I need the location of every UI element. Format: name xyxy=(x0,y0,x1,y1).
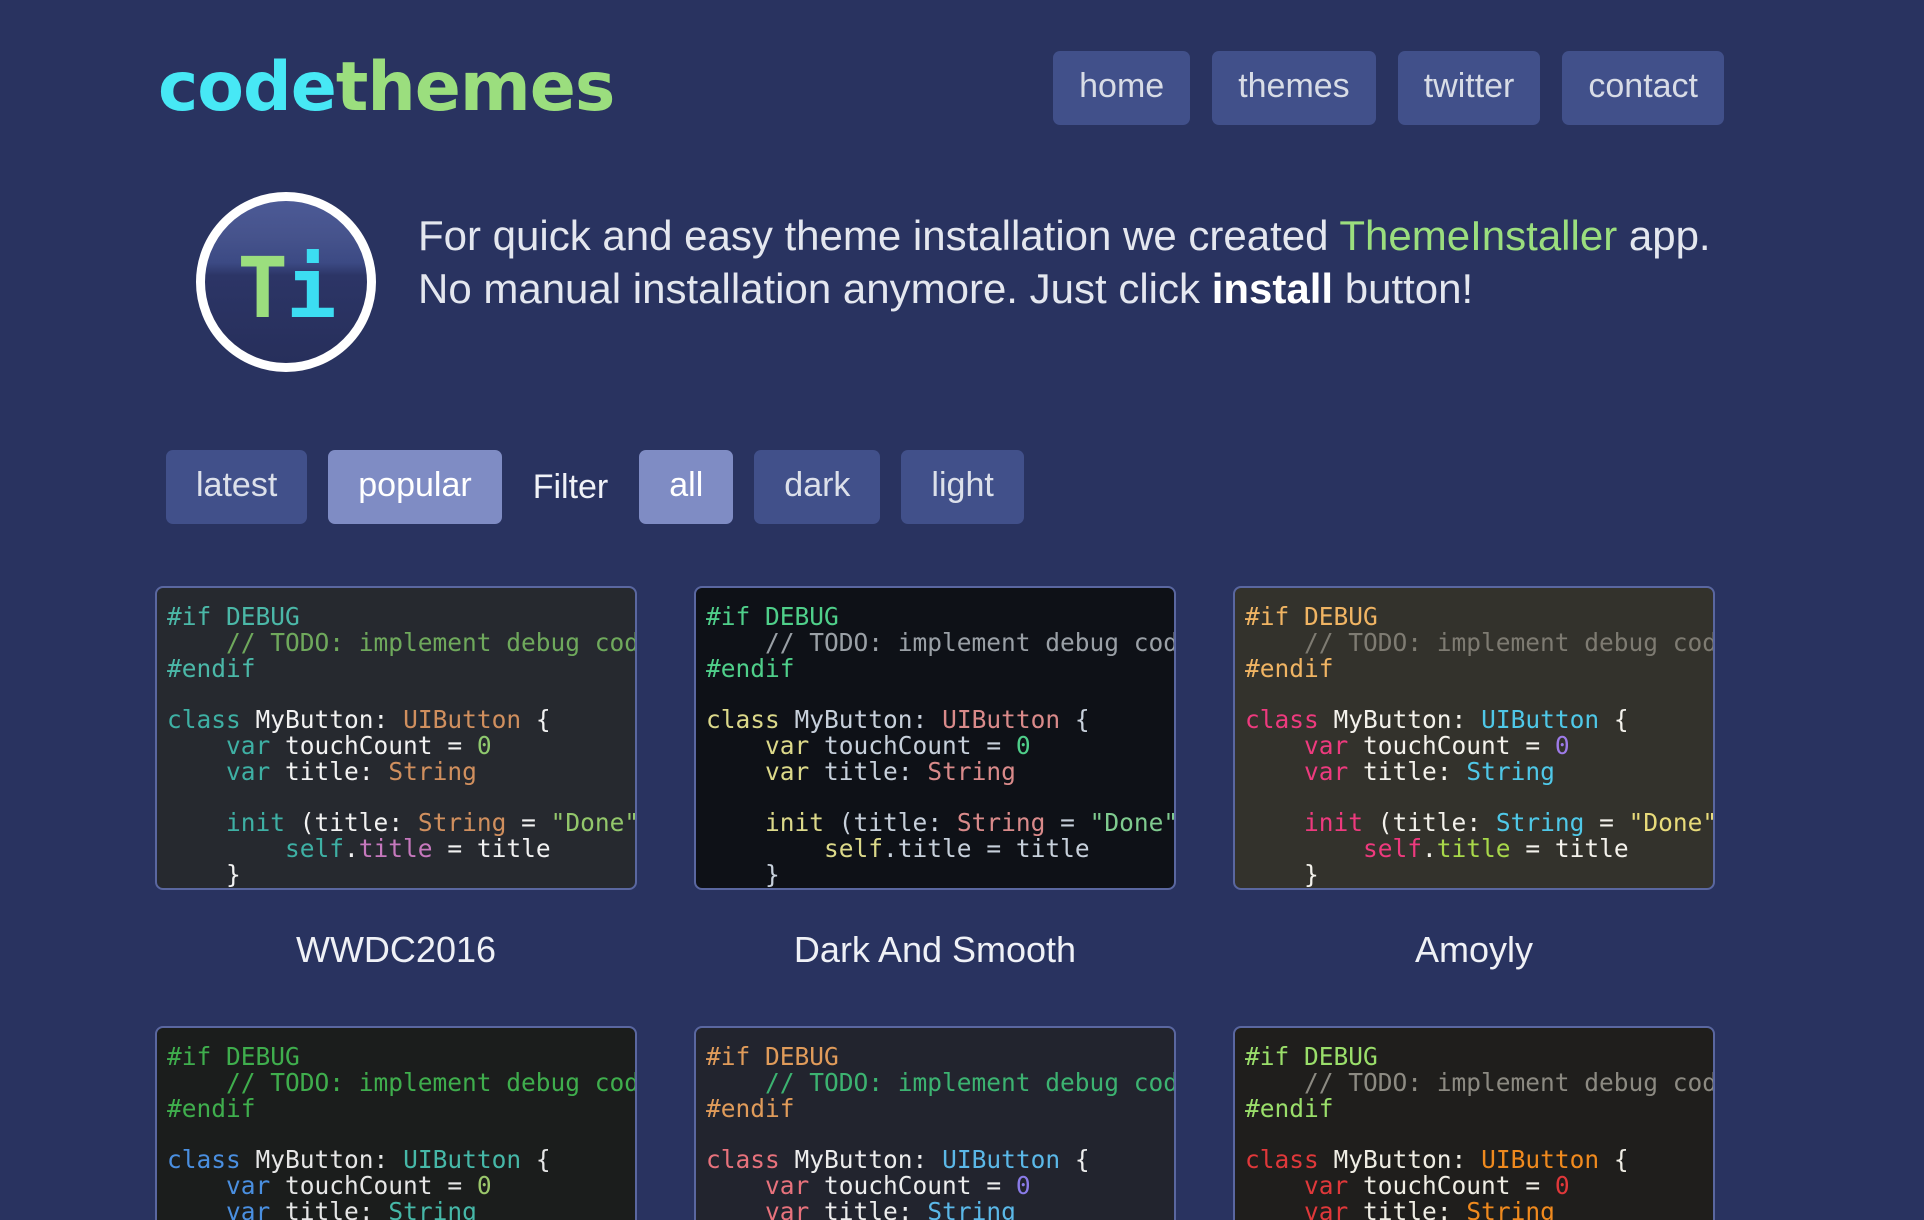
code-line: } xyxy=(1245,862,1699,888)
promo-banner: Ti For quick and easy theme installation… xyxy=(0,140,1924,372)
code-line: #if DEBUG xyxy=(1245,1044,1699,1070)
main-nav: home themes twitter contact xyxy=(1053,51,1724,125)
code-line: #if DEBUG xyxy=(706,1044,1160,1070)
code-line xyxy=(706,1121,1160,1147)
code-line: var touchCount = 0 xyxy=(706,1173,1160,1199)
theme-preview-card[interactable]: #if DEBUG // TODO: implement debug code#… xyxy=(1233,1026,1715,1220)
banner-text-install: install xyxy=(1212,265,1333,312)
code-line: self.title = title xyxy=(167,836,621,862)
code-line: var title: String xyxy=(1245,1199,1699,1220)
code-line: // TODO: implement debug code xyxy=(706,630,1160,656)
code-line xyxy=(1245,681,1699,707)
code-line: class MyButton: UIButton { xyxy=(706,1147,1160,1173)
theme-title: Amoyly xyxy=(1233,890,1715,1026)
theme-cell: #if DEBUG // TODO: implement debug code#… xyxy=(694,586,1176,1026)
theme-preview-card[interactable]: #if DEBUG // TODO: implement debug code#… xyxy=(1233,586,1715,890)
code-line: } xyxy=(167,862,621,888)
code-line: init (title: String = "Done") { xyxy=(706,810,1160,836)
code-line: // TODO: implement debug code xyxy=(706,1070,1160,1096)
filter-button-dark[interactable]: dark xyxy=(754,450,880,524)
code-line: #if DEBUG xyxy=(706,604,1160,630)
code-line: init (title: String = "Done") { xyxy=(1245,810,1699,836)
code-line: class MyButton: UIButton { xyxy=(1245,1147,1699,1173)
logo-part-code: code xyxy=(158,48,336,127)
theme-cell: #if DEBUG // TODO: implement debug code#… xyxy=(155,1026,637,1220)
code-line: class MyButton: UIButton { xyxy=(167,1147,621,1173)
code-line: #if DEBUG xyxy=(167,1044,621,1070)
nav-item-contact[interactable]: contact xyxy=(1562,51,1724,125)
theme-cell: #if DEBUG // TODO: implement debug code#… xyxy=(155,586,637,1026)
nav-item-home[interactable]: home xyxy=(1053,51,1190,125)
code-line: var touchCount = 0 xyxy=(1245,733,1699,759)
code-line xyxy=(167,785,621,811)
theme-title: WWDC2016 xyxy=(155,890,637,1026)
code-line: var touchCount = 0 xyxy=(706,733,1160,759)
code-line: } xyxy=(706,862,1160,888)
app-icon-letter-t: T xyxy=(237,239,286,337)
app-icon-label: Ti xyxy=(237,246,334,330)
nav-item-twitter[interactable]: twitter xyxy=(1398,51,1541,125)
banner-link-themeinstaller[interactable]: ThemeInstaller xyxy=(1339,212,1617,259)
code-line: #endif xyxy=(167,656,621,682)
code-line: // TODO: implement debug code xyxy=(1245,1070,1699,1096)
code-line: var title: String xyxy=(1245,759,1699,785)
code-line: #endif xyxy=(1245,1096,1699,1122)
theme-cell: #if DEBUG // TODO: implement debug code#… xyxy=(694,1026,1176,1220)
site-logo[interactable]: codethemes xyxy=(158,54,614,122)
code-line: var touchCount = 0 xyxy=(167,1173,621,1199)
filter-bar: latest popular Filter all dark light xyxy=(0,372,1924,524)
code-line xyxy=(1245,1121,1699,1147)
site-header: codethemes home themes twitter contact xyxy=(0,0,1924,140)
code-line: #if DEBUG xyxy=(167,604,621,630)
code-line: self.title = title xyxy=(1245,836,1699,862)
theme-title: Dark And Smooth xyxy=(694,890,1176,1026)
code-line xyxy=(706,681,1160,707)
code-line: init (title: String = "Done") { xyxy=(167,810,621,836)
theme-preview-card[interactable]: #if DEBUG // TODO: implement debug code#… xyxy=(694,586,1176,890)
nav-item-themes[interactable]: themes xyxy=(1212,51,1376,125)
code-line: self.title = title xyxy=(706,836,1160,862)
code-line: class MyButton: UIButton { xyxy=(1245,707,1699,733)
theme-preview-card[interactable]: #if DEBUG // TODO: implement debug code#… xyxy=(694,1026,1176,1220)
code-line: // TODO: implement debug code xyxy=(167,1070,621,1096)
code-line: var title: String xyxy=(706,1199,1160,1220)
banner-text-part1: For quick and easy theme installation we… xyxy=(418,212,1339,259)
code-line: #endif xyxy=(1245,656,1699,682)
filter-label: Filter xyxy=(523,470,619,504)
promo-banner-text: For quick and easy theme installation we… xyxy=(418,192,1724,316)
banner-text-part3: button! xyxy=(1333,265,1473,312)
theme-cell: #if DEBUG // TODO: implement debug code#… xyxy=(1233,1026,1715,1220)
code-line xyxy=(1245,785,1699,811)
theme-preview-card[interactable]: #if DEBUG // TODO: implement debug code#… xyxy=(155,586,637,890)
filter-button-all[interactable]: all xyxy=(639,450,733,524)
theme-grid: #if DEBUG // TODO: implement debug code#… xyxy=(0,524,1924,1220)
code-line: #endif xyxy=(706,1096,1160,1122)
theme-cell: #if DEBUG // TODO: implement debug code#… xyxy=(1233,586,1715,1026)
code-line: #endif xyxy=(167,1096,621,1122)
code-line: // TODO: implement debug code xyxy=(1245,630,1699,656)
filter-button-light[interactable]: light xyxy=(901,450,1023,524)
code-line: var title: String xyxy=(167,1199,621,1220)
logo-part-themes: themes xyxy=(336,48,614,127)
code-line xyxy=(167,681,621,707)
page-root: codethemes home themes twitter contact T… xyxy=(0,0,1924,1220)
app-icon-letter-i: i xyxy=(286,239,335,337)
code-line: // TODO: implement debug code xyxy=(167,630,621,656)
code-line: class MyButton: UIButton { xyxy=(167,707,621,733)
code-line: class MyButton: UIButton { xyxy=(706,707,1160,733)
code-line: #endif xyxy=(706,656,1160,682)
theme-preview-card[interactable]: #if DEBUG // TODO: implement debug code#… xyxy=(155,1026,637,1220)
themeinstaller-app-icon[interactable]: Ti xyxy=(196,192,376,372)
code-line: var title: String xyxy=(706,759,1160,785)
code-line xyxy=(167,1121,621,1147)
sort-button-popular[interactable]: popular xyxy=(328,450,501,524)
code-line: var touchCount = 0 xyxy=(1245,1173,1699,1199)
code-line: var touchCount = 0 xyxy=(167,733,621,759)
code-line: var title: String xyxy=(167,759,621,785)
code-line xyxy=(706,785,1160,811)
sort-button-latest[interactable]: latest xyxy=(166,450,307,524)
code-line: #if DEBUG xyxy=(1245,604,1699,630)
